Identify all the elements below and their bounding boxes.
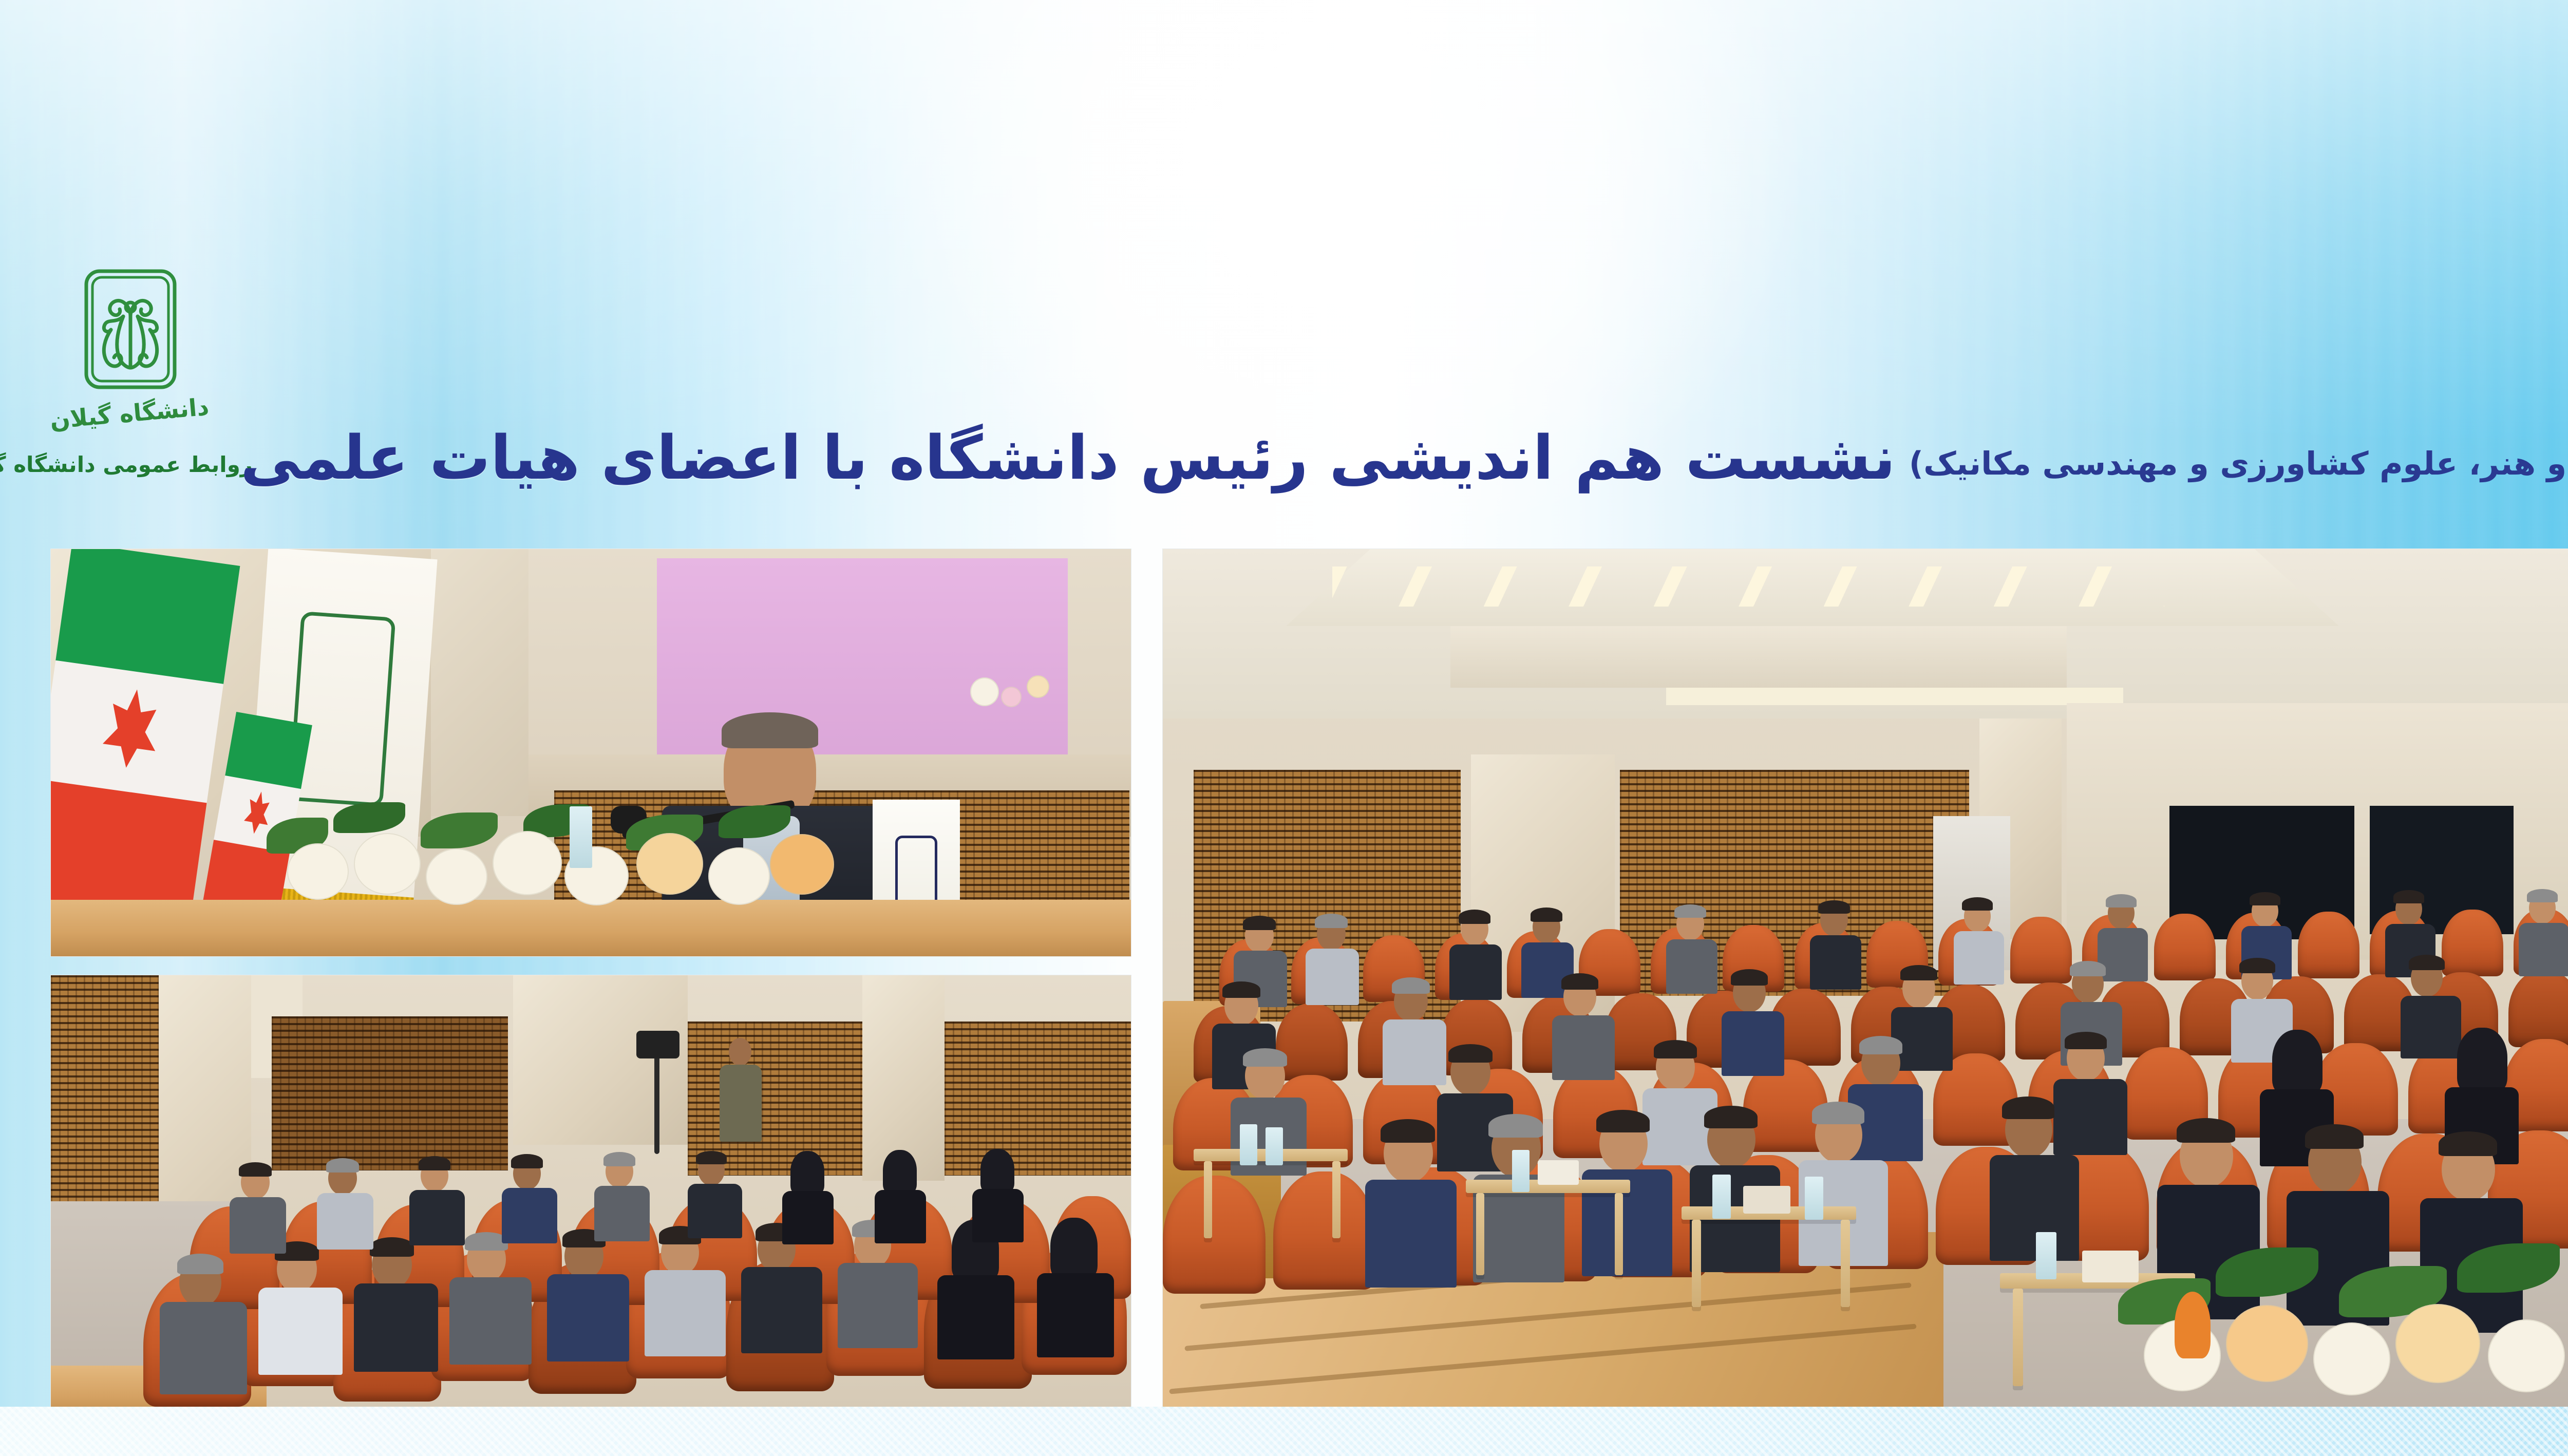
photo-hall-wide xyxy=(1162,549,2568,1416)
foreground-flowers xyxy=(2098,1217,2568,1416)
photo-audience-side-view xyxy=(50,975,1131,1416)
page-subtitle: (دانشکده های فنی، ادبیات و علوم انسانی، … xyxy=(1909,448,2568,480)
page-title: نشست هم اندیشی رئیس دانشگاه با اعضای هیا… xyxy=(240,427,1896,488)
flower-arrangement xyxy=(256,797,862,920)
banner-title-row: نشست هم اندیشی رئیس دانشگاه با اعضای هیا… xyxy=(240,427,2568,515)
event-banner: دانشگاه گیلان روابط عمومی دانشگاه گیلان … xyxy=(0,0,2568,1456)
photo-collage xyxy=(50,549,2568,1416)
university-of-gilan-emblem-icon xyxy=(79,267,182,407)
bottom-band-texture xyxy=(0,1407,2568,1456)
public-relations-label: روابط عمومی دانشگاه گیلان xyxy=(11,452,253,477)
bottom-band xyxy=(0,1407,2568,1456)
photo-column-center xyxy=(1162,549,2568,1416)
photo-column-left xyxy=(50,549,1131,1416)
photo-podium-speaker xyxy=(50,549,1131,957)
university-logo-block: دانشگاه گیلان روابط عمومی دانشگاه گیلان xyxy=(32,267,248,508)
